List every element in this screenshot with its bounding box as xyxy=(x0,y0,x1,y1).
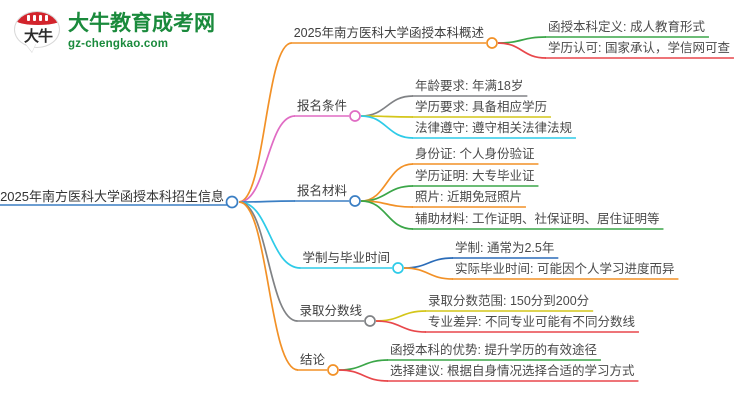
mindmap-leaf-label-2-1: 学历证明: 大专毕业证 xyxy=(415,170,534,183)
mindmap-leaf-label-2-3: 辅助材料: 工作证明、社保证明、居住证明等 xyxy=(415,213,659,226)
mindmap-leaf-label-4-1: 专业差异: 不同专业可能有不同分数线 xyxy=(428,316,635,329)
mindmap-root-node xyxy=(227,197,238,208)
mindmap-branch-label-5: 结论 xyxy=(300,354,325,367)
mindmap-leaf-label-3-1: 实际毕业时间: 可能因个人学习进度而异 xyxy=(455,263,674,276)
mindmap-root-label: 2025年南方医科大学函授本科招生信息 xyxy=(0,190,224,203)
mindmap-leaf-label-3-0: 学制: 通常为2.5年 xyxy=(455,242,554,255)
mindmap-branch-label-1: 报名条件 xyxy=(297,100,347,113)
mindmap-leaf-label-1-1: 学历要求: 具备相应学历 xyxy=(415,101,547,114)
mindmap-leaf-link-1-2 xyxy=(361,116,413,138)
mindmap-leaf-link-4-1 xyxy=(376,321,426,332)
mindmap-leaf-link-5-0 xyxy=(339,360,388,370)
mindmap-leaf-link-3-0 xyxy=(404,258,453,268)
mindmap-branch-node-0 xyxy=(487,38,497,48)
mindmap-leaf-link-2-3 xyxy=(361,201,413,229)
mindmap-leaf-label-0-1: 学历认可: 国家承认，学信网可查 xyxy=(548,42,730,55)
mindmap-branch-node-4 xyxy=(365,316,375,326)
mindmap-leaf-link-1-0 xyxy=(361,96,413,116)
mindmap-branch-node-5 xyxy=(328,365,338,375)
mindmap-branch-link-1 xyxy=(239,116,295,202)
mindmap-leaf-label-2-0: 身份证: 个人身份验证 xyxy=(415,148,534,161)
mindmap-branch-node-2 xyxy=(350,196,360,206)
mindmap-branch-label-4: 录取分数线 xyxy=(299,305,362,318)
mindmap-leaf-label-5-0: 函授本科的优势: 提升学历的有效途径 xyxy=(390,344,597,357)
mindmap-branch-node-3 xyxy=(393,263,403,273)
mindmap-underlines-layer xyxy=(0,37,734,381)
mindmap-leaf-link-4-0 xyxy=(376,311,426,321)
mindmap-leaf-label-5-1: 选择建议: 根据自身情况选择合适的学习方式 xyxy=(390,365,634,378)
mindmap-leaf-link-3-1 xyxy=(404,268,453,279)
mindmap-branch-label-0: 2025年南方医科大学函授本科概述 xyxy=(294,27,484,40)
mindmap-canvas xyxy=(0,0,750,410)
mindmap-leaf-label-1-0: 年龄要求: 年满18岁 xyxy=(415,80,523,93)
mindmap-leaf-link-5-1 xyxy=(339,370,388,381)
mindmap-leaf-label-1-2: 法律遵守: 遵守相关法律法规 xyxy=(415,122,572,135)
mindmap-leaf-label-4-0: 录取分数范围: 150分到200分 xyxy=(428,295,589,308)
mindmap-branch-link-2 xyxy=(239,201,295,202)
mindmap-branch-label-2: 报名材料 xyxy=(297,185,347,198)
mindmap-leaf-link-2-0 xyxy=(361,164,413,201)
mindmap-branch-node-1 xyxy=(350,111,360,121)
mindmap-leaf-link-0-1 xyxy=(498,43,546,58)
mindmap-branch-label-3: 学制与毕业时间 xyxy=(302,252,390,265)
mindmap-leaf-link-2-1 xyxy=(361,186,413,201)
mindmap-leaf-label-0-0: 函授本科定义: 成人教育形式 xyxy=(548,21,705,34)
mindmap-leaf-label-2-2: 照片: 近期免冠照片 xyxy=(415,191,522,204)
mindmap-branch-link-3 xyxy=(239,202,300,268)
mindmap-branch-link-5 xyxy=(239,202,298,370)
mindmap-branch-link-4 xyxy=(239,202,297,321)
mindmap-leaf-link-0-0 xyxy=(498,37,546,43)
